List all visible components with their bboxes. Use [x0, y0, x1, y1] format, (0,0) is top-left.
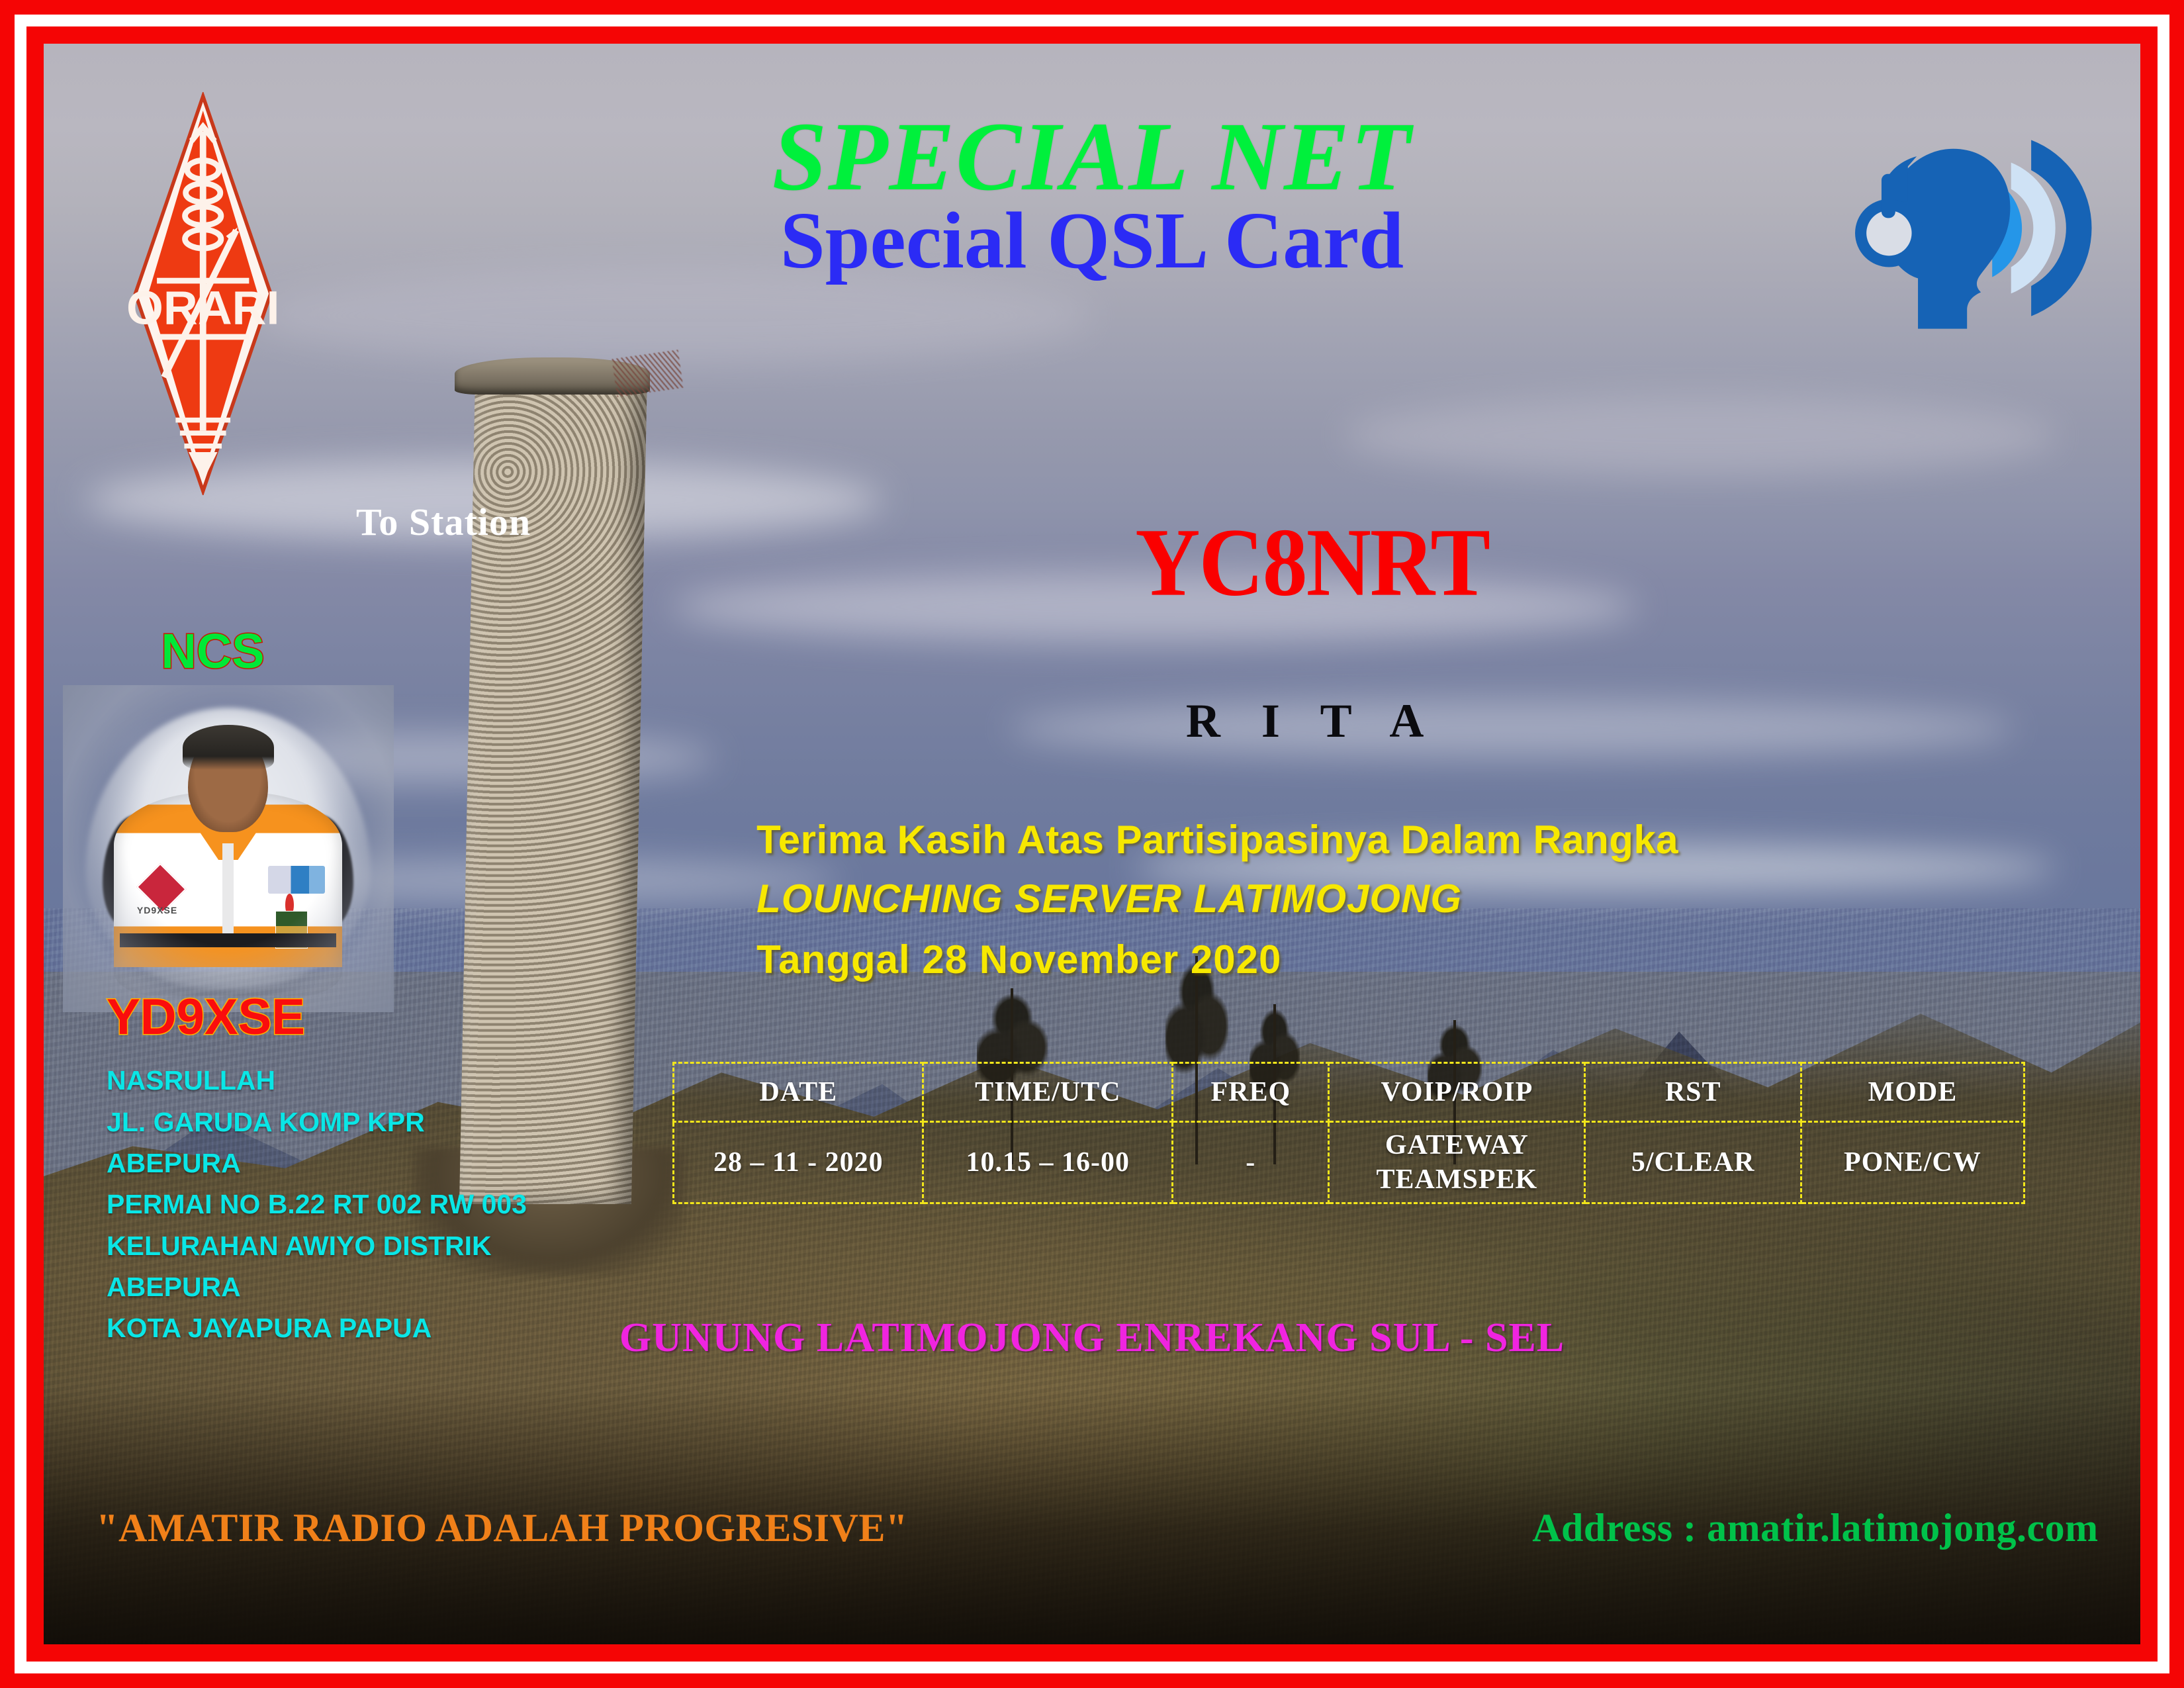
- ncs-label: NCS: [161, 623, 264, 679]
- operator-name: R I T A: [997, 694, 1626, 749]
- col-header-freq: FREQ: [1173, 1062, 1329, 1121]
- table-row: 28 – 11 - 2020 10.15 – 16-00 - GATEWAY T…: [674, 1121, 2024, 1203]
- thanks-line-3: Tanggal 28 November 2020: [756, 940, 2015, 980]
- thanks-line-1: Terima Kasih Atas Partisipasinya Dalam R…: [756, 820, 2015, 860]
- qso-log-table: DATE TIME/UTC FREQ VOIP/ROIP RST MODE 28…: [672, 1062, 2025, 1204]
- qsl-card: ORARI: [0, 0, 2184, 1688]
- ncs-callsign: YD9XSE: [107, 988, 305, 1046]
- col-header-voip-roip: VOIP/ROIP: [1329, 1062, 1585, 1121]
- page-title: SPECIAL NET: [44, 108, 2140, 206]
- orari-logo-text: ORARI: [126, 281, 279, 334]
- col-header-date: DATE: [674, 1062, 923, 1121]
- cell-date: 28 – 11 - 2020: [674, 1121, 923, 1203]
- portrait-shirt-callsign: YD9XSE: [137, 905, 177, 915]
- operator-portrait: YD9XSE: [85, 708, 371, 990]
- content-layer: ORARI: [44, 44, 2140, 1644]
- card-inner-red-border: ORARI: [26, 26, 2158, 1662]
- page-subtitle: Special QSL Card: [44, 201, 2140, 281]
- station-address-block: NASRULLAH JL. GARUDA KOMP KPR ABEPURA PE…: [107, 1060, 527, 1348]
- web-address-text: Address : amatir.latimojong.com: [1532, 1505, 2098, 1551]
- station-callsign: YC8NRT: [997, 514, 1626, 611]
- thanks-line-2: LOUNCHING SERVER LATIMOJONG: [756, 879, 2015, 919]
- cell-voip-roip: GATEWAY TEAMSPEK: [1329, 1121, 1585, 1203]
- motto-text: "AMATIR RADIO ADALAH PROGRESIVE": [96, 1505, 908, 1551]
- location-label: GUNUNG LATIMOJONG ENREKANG SUL - SEL: [44, 1315, 2140, 1362]
- col-header-time: TIME/UTC: [923, 1062, 1173, 1121]
- card-white-border: ORARI: [15, 15, 2169, 1673]
- to-station-label: To Station: [356, 500, 531, 544]
- cell-freq: -: [1173, 1121, 1329, 1203]
- card-background-photo: ORARI: [44, 44, 2140, 1644]
- cell-rst: 5/CLEAR: [1585, 1121, 1801, 1203]
- col-header-mode: MODE: [1801, 1062, 2025, 1121]
- cell-mode: PONE/CW: [1801, 1121, 2025, 1203]
- table-header-row: DATE TIME/UTC FREQ VOIP/ROIP RST MODE: [674, 1062, 2024, 1121]
- uniform-emblem-icon: [268, 866, 325, 894]
- cell-time: 10.15 – 16-00: [923, 1121, 1173, 1203]
- col-header-rst: RST: [1585, 1062, 1801, 1121]
